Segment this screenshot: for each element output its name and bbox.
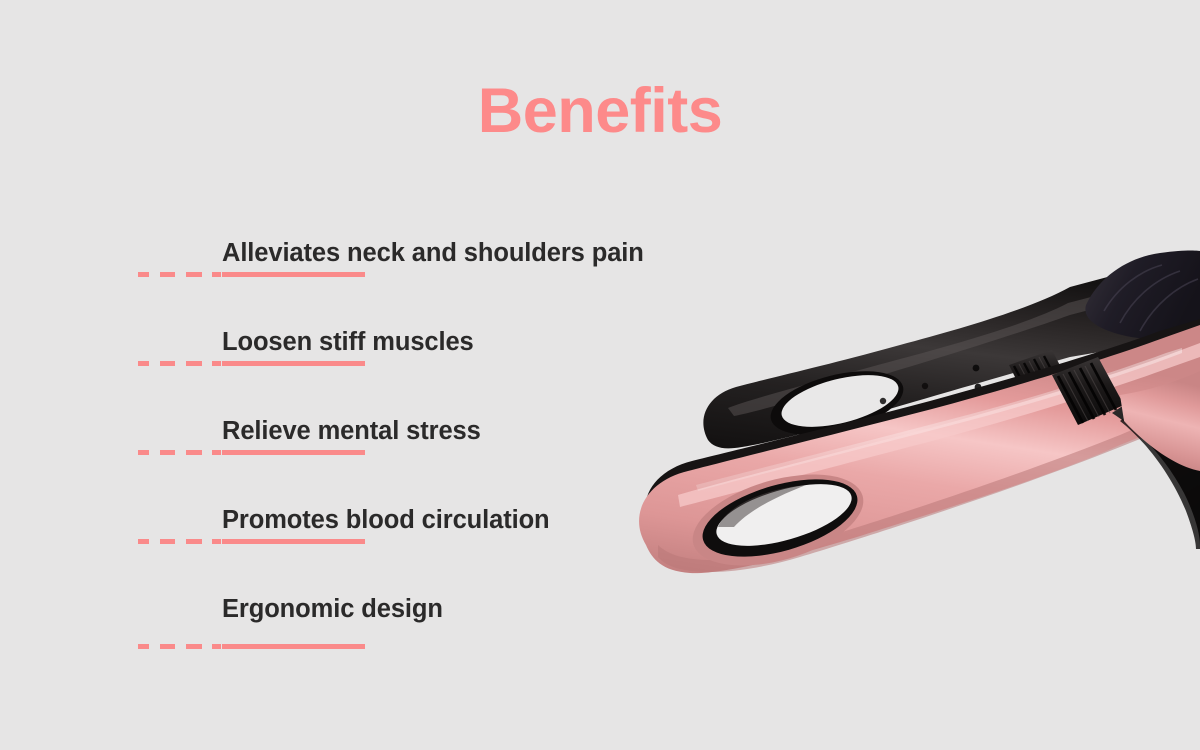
- dash-mark: [138, 272, 149, 277]
- massager-black-tail: [1112, 405, 1200, 549]
- benefit-label: Loosen stiff muscles: [222, 327, 474, 358]
- dash-mark: [138, 644, 149, 649]
- page-title: Benefits: [0, 78, 1200, 144]
- dash-mark: [160, 539, 175, 544]
- benefit-rule: [0, 539, 400, 545]
- benefits-list: Alleviates neck and shoulders pain Loose…: [0, 230, 620, 686]
- massager-fabric-cuff: [1085, 251, 1200, 340]
- dash-mark: [212, 361, 221, 366]
- benefit-rule: [0, 450, 400, 456]
- dash-mark: [186, 539, 202, 544]
- list-item: Alleviates neck and shoulders pain: [0, 230, 620, 319]
- benefit-rule: [0, 361, 400, 367]
- benefit-label: Ergonomic design: [222, 594, 443, 625]
- product-image: [600, 245, 1200, 645]
- dash-mark: [138, 539, 149, 544]
- dash-mark: [138, 361, 149, 366]
- dash-mark: [186, 644, 202, 649]
- dash-mark: [160, 361, 175, 366]
- underline-rule: [222, 450, 365, 455]
- dash-mark: [138, 450, 149, 455]
- dash-mark: [160, 644, 175, 649]
- benefits-slide: Benefits Alleviates neck and shoulders p…: [0, 0, 1200, 750]
- dash-mark: [212, 539, 221, 544]
- underline-rule: [222, 644, 365, 649]
- dash-mark: [160, 450, 175, 455]
- dash-mark: [212, 644, 221, 649]
- dash-mark: [212, 450, 221, 455]
- list-item: Relieve mental stress: [0, 408, 620, 497]
- massager-band-upper: [1009, 350, 1070, 401]
- massager-pink-tail: [1120, 371, 1200, 471]
- underline-rule: [222, 361, 365, 366]
- benefit-label: Alleviates neck and shoulders pain: [222, 238, 644, 269]
- dash-mark: [186, 450, 202, 455]
- benefit-rule: [0, 272, 400, 278]
- list-item: Ergonomic design: [0, 586, 620, 686]
- underline-rule: [222, 539, 365, 544]
- dash-mark: [186, 272, 202, 277]
- massager-black-arm: [703, 255, 1200, 448]
- massager-band-lower: [1052, 357, 1124, 425]
- underline-rule: [222, 272, 365, 277]
- dash-mark: [186, 361, 202, 366]
- benefit-label: Promotes blood circulation: [222, 505, 550, 536]
- dash-mark: [160, 272, 175, 277]
- benefit-rule: [0, 644, 400, 650]
- dash-mark: [212, 272, 221, 277]
- list-item: Loosen stiff muscles: [0, 319, 620, 408]
- massager-pink-arm: [639, 319, 1200, 583]
- benefit-label: Relieve mental stress: [222, 416, 481, 447]
- list-item: Promotes blood circulation: [0, 497, 620, 586]
